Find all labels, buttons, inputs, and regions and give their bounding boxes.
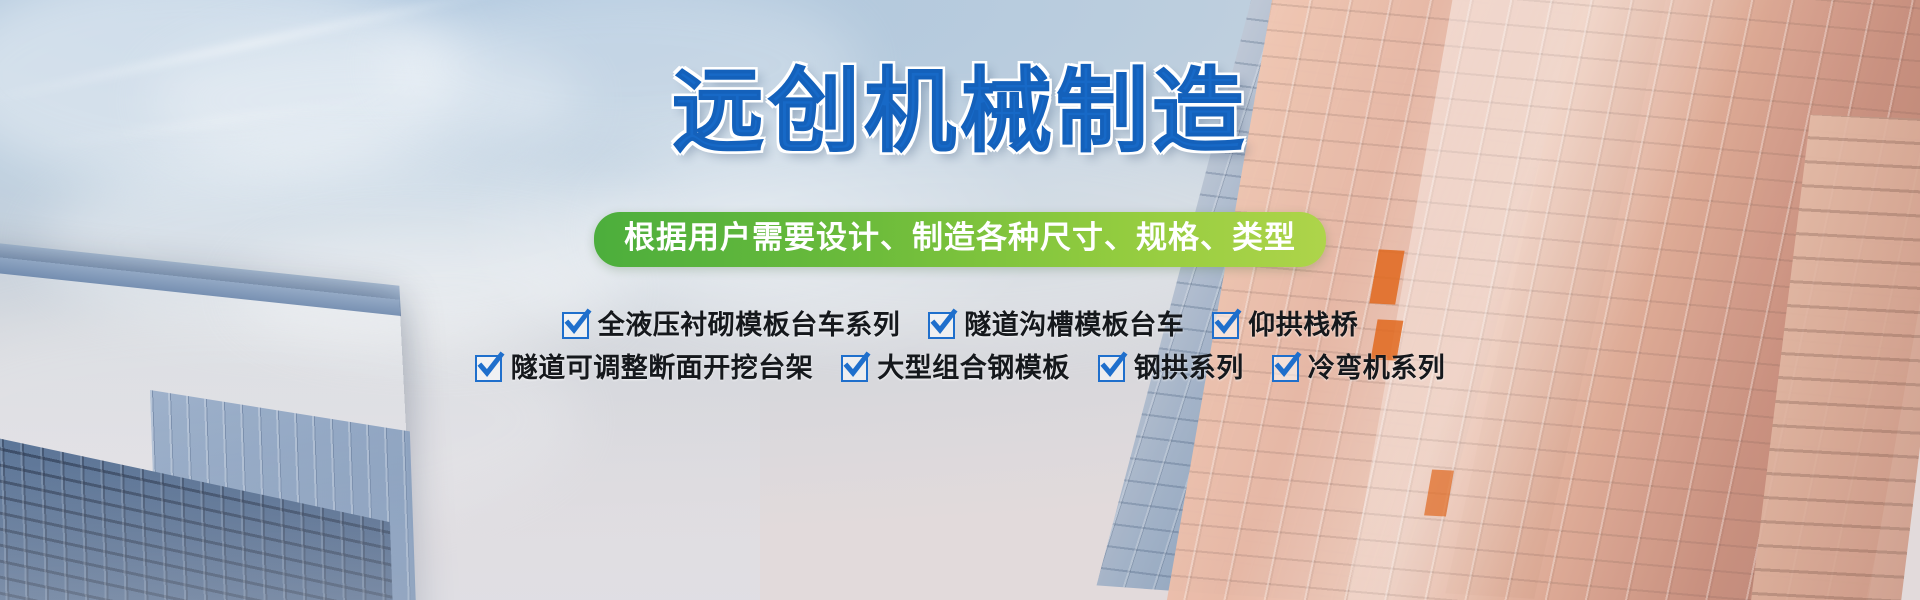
feature-row: 隧道可调整断面开挖台架大型组合钢模板钢拱系列冷弯机系列 bbox=[0, 355, 1920, 382]
feature-item-label: 冷弯机系列 bbox=[1308, 355, 1446, 382]
checkbox-checked-icon[interactable] bbox=[562, 312, 589, 339]
feature-item[interactable]: 全液压衬砌模板台车系列 bbox=[562, 312, 901, 339]
feature-item[interactable]: 钢拱系列 bbox=[1098, 355, 1244, 382]
checkbox-checked-icon[interactable] bbox=[1212, 312, 1239, 339]
checkbox-checked-icon[interactable] bbox=[1272, 355, 1299, 382]
feature-item[interactable]: 隧道可调整断面开挖台架 bbox=[475, 355, 814, 382]
tagline-badge: 根据用户需要设计、制造各种尺寸、规格、类型 bbox=[594, 212, 1326, 267]
feature-item-label: 钢拱系列 bbox=[1134, 355, 1244, 382]
feature-item[interactable]: 隧道沟槽模板台车 bbox=[928, 312, 1184, 339]
promo-banner: 远创机械制造 根据用户需要设计、制造各种尺寸、规格、类型 全液压衬砌模板台车系列… bbox=[0, 0, 1920, 600]
checkbox-checked-icon[interactable] bbox=[1098, 355, 1125, 382]
checkbox-checked-icon[interactable] bbox=[928, 312, 955, 339]
checkbox-checked-icon[interactable] bbox=[841, 355, 868, 382]
feature-item-label: 仰拱栈桥 bbox=[1248, 312, 1358, 339]
feature-item-label: 大型组合钢模板 bbox=[877, 355, 1070, 382]
feature-item[interactable]: 仰拱栈桥 bbox=[1212, 312, 1358, 339]
feature-item[interactable]: 冷弯机系列 bbox=[1272, 355, 1446, 382]
checkbox-checked-icon[interactable] bbox=[475, 355, 502, 382]
banner-content: 远创机械制造 根据用户需要设计、制造各种尺寸、规格、类型 全液压衬砌模板台车系列… bbox=[0, 0, 1920, 600]
feature-list: 全液压衬砌模板台车系列隧道沟槽模板台车仰拱栈桥隧道可调整断面开挖台架大型组合钢模… bbox=[0, 312, 1920, 398]
feature-item-label: 隧道可调整断面开挖台架 bbox=[511, 355, 814, 382]
banner-title: 远创机械制造 bbox=[0, 62, 1920, 161]
feature-item[interactable]: 大型组合钢模板 bbox=[841, 355, 1070, 382]
tagline-badge-wrap: 根据用户需要设计、制造各种尺寸、规格、类型 bbox=[0, 212, 1920, 267]
feature-item-label: 全液压衬砌模板台车系列 bbox=[598, 312, 901, 339]
feature-row: 全液压衬砌模板台车系列隧道沟槽模板台车仰拱栈桥 bbox=[0, 312, 1920, 339]
feature-item-label: 隧道沟槽模板台车 bbox=[964, 312, 1184, 339]
